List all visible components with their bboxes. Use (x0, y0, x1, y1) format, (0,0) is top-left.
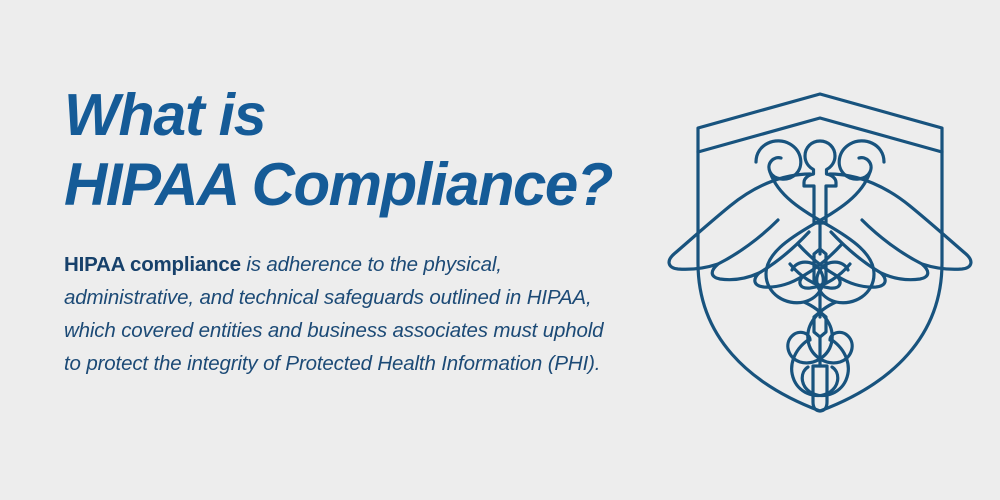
caduceus-staff (804, 141, 836, 411)
body-line-4: to protect the integrity of Protected He… (64, 347, 664, 380)
caduceus-left-wing (669, 174, 850, 288)
page-title-line-1: What is (64, 80, 664, 150)
caduceus-right-wing (790, 174, 971, 288)
body-lead-in: HIPAA compliance (64, 253, 241, 276)
body-paragraph: HIPAA compliance is adherence to the phy… (64, 248, 664, 380)
body-line-2: administrative, and technical safeguards… (64, 281, 664, 314)
page-title-line-2: HIPAA Compliance? (64, 150, 664, 220)
body-line-1: HIPAA compliance is adherence to the phy… (64, 248, 664, 281)
shield-caduceus-emblem (660, 78, 980, 423)
page-title: What is HIPAA Compliance? (64, 80, 664, 220)
shield-top-band (698, 118, 942, 152)
body-line-3: which covered entities and business asso… (64, 314, 664, 347)
body-line-1-rest: is adherence to the physical, (241, 253, 502, 276)
text-block: What is HIPAA Compliance? HIPAA complian… (64, 80, 664, 380)
hipaa-compliance-banner: What is HIPAA Compliance? HIPAA complian… (0, 0, 1000, 500)
